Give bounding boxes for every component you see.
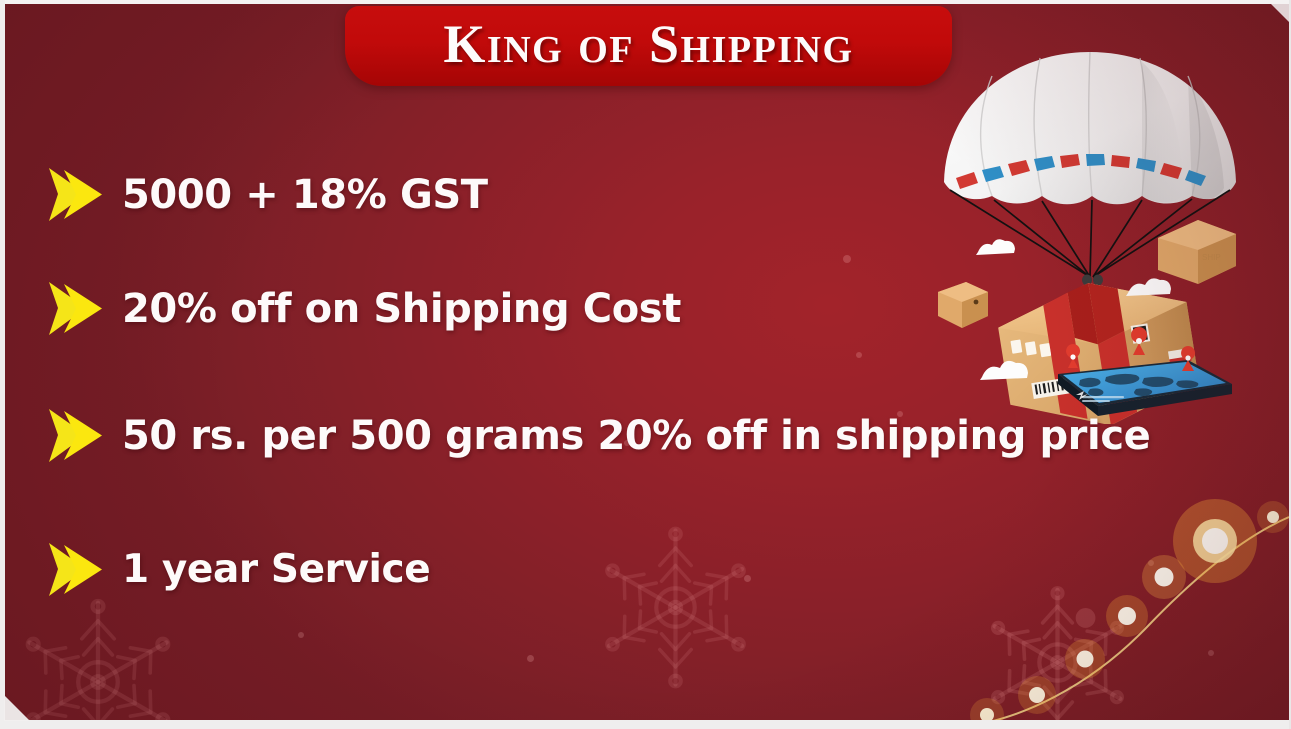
list-item: 20% off on Shipping Cost <box>46 250 1226 368</box>
title-badge: King of Shipping <box>345 6 952 86</box>
promotional-banner: SHIP <box>0 0 1291 729</box>
offer-text: 1 year Service <box>122 550 430 591</box>
frame-edge-bottom <box>0 720 1291 729</box>
corner-fold-bottom-left <box>4 695 30 721</box>
frame-edge-top <box>0 0 1291 4</box>
double-chevron-icon <box>46 405 108 467</box>
page-title: King of Shipping <box>443 17 853 75</box>
double-chevron-icon <box>46 164 108 226</box>
list-item: 50 rs. per 500 grams 20% off in shipping… <box>46 368 1226 504</box>
offer-list: 5000 + 18% GST 20% off on Shipping Cost … <box>46 140 1226 636</box>
double-chevron-icon <box>46 278 108 340</box>
offer-text: 5000 + 18% GST <box>122 174 488 216</box>
frame-edge-left <box>0 0 5 729</box>
offer-text: 20% off on Shipping Cost <box>122 288 681 330</box>
corner-fold-top-right <box>1271 4 1289 22</box>
list-item: 1 year Service <box>46 504 1226 636</box>
double-chevron-icon <box>46 539 108 601</box>
list-item: 5000 + 18% GST <box>46 140 1226 250</box>
offer-text: 50 rs. per 500 grams 20% off in shipping… <box>122 415 1150 457</box>
